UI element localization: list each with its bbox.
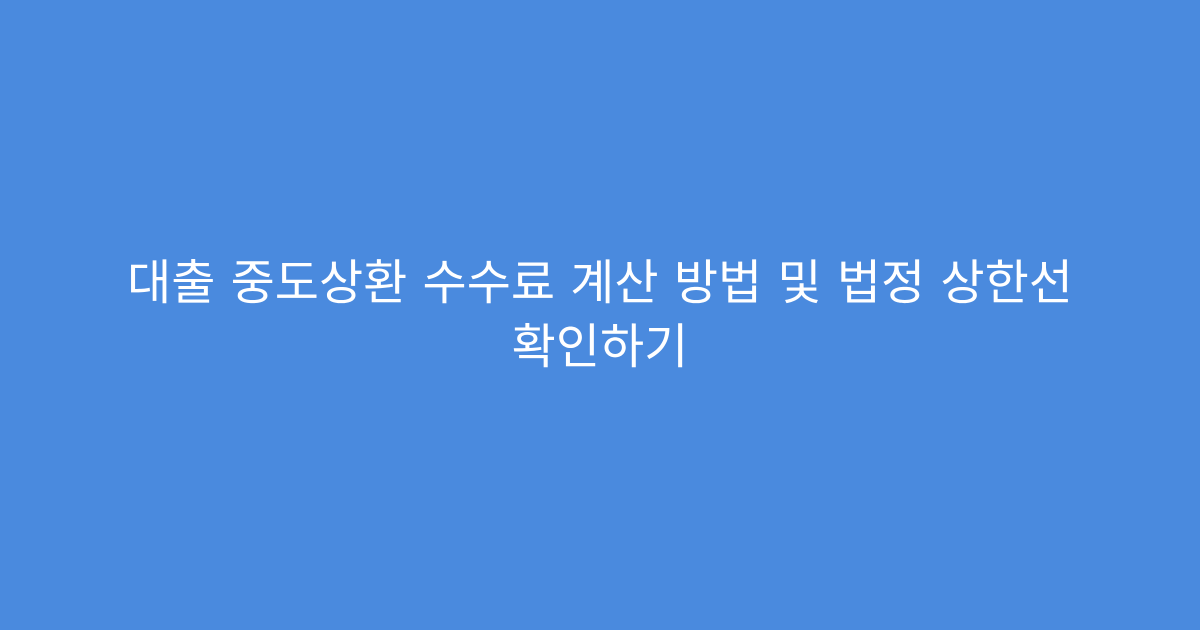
- og-image-card: 대출 중도상환 수수료 계산 방법 및 법정 상한선 확인하기: [0, 0, 1200, 630]
- title-block: 대출 중도상환 수수료 계산 방법 및 법정 상한선 확인하기: [70, 251, 1130, 379]
- page-title: 대출 중도상환 수수료 계산 방법 및 법정 상한선 확인하기: [90, 251, 1110, 379]
